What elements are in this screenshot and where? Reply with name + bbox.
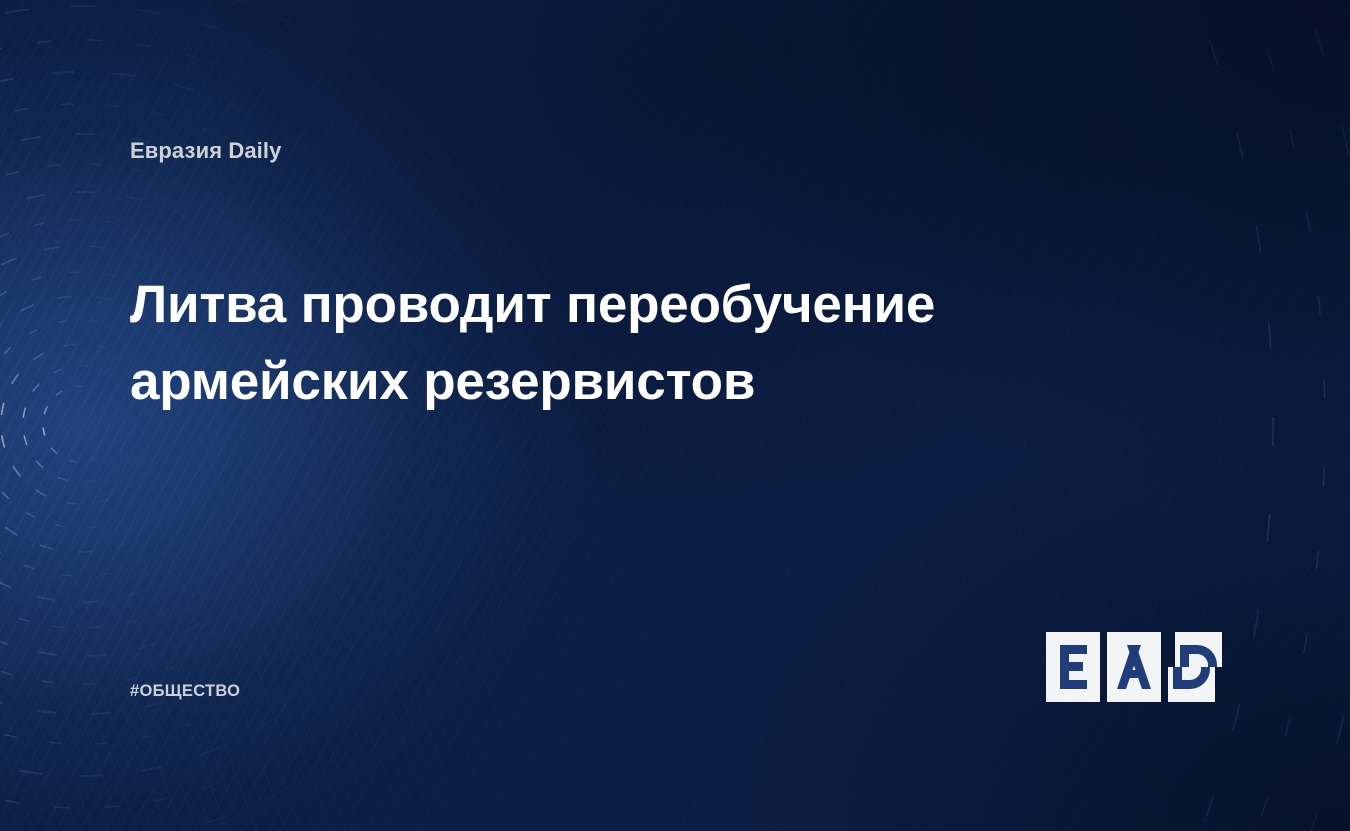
logo-tile-a — [1107, 632, 1161, 702]
headline: Литва проводит переобучение армейских ре… — [130, 266, 1010, 421]
eadaily-logo — [1046, 625, 1222, 709]
category-tag: #ОБЩЕСТВО — [130, 682, 240, 701]
card-content: Евразия Daily Литва проводит переобучени… — [0, 0, 1350, 831]
logo-letter-e-glyph — [1060, 645, 1087, 689]
news-share-card: Евразия Daily Литва проводит переобучени… — [0, 0, 1350, 831]
site-name: Евразия Daily — [130, 138, 281, 164]
